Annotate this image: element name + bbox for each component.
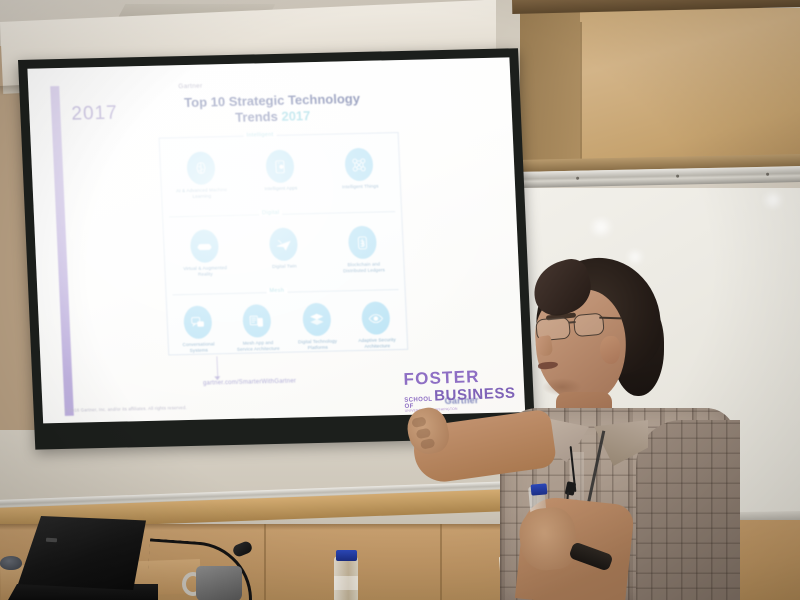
bottle-label xyxy=(334,576,358,590)
trend-label: Adaptive Security Architecture xyxy=(355,337,400,350)
trend-cell[interactable]: Conversational Systems xyxy=(175,305,221,354)
trend-cell[interactable]: Adaptive Security Architecture xyxy=(353,301,399,350)
trend-label: Digital Technology Platforms xyxy=(295,338,340,351)
foster-logo-business: BUSINESS xyxy=(434,385,516,405)
whiteboard-glare xyxy=(760,192,786,208)
foster-school-logo: FOSTER SCHOOL OF BUSINESS UNIVERSITY of … xyxy=(403,368,501,413)
shirt-shoulder-right xyxy=(636,420,740,600)
trend-grid: Intelligent AI & Advanced Mac xyxy=(159,132,409,355)
trend-cell[interactable]: Virtual & Augmented Reality xyxy=(176,229,232,279)
slide-title-year: 2017 xyxy=(281,108,311,124)
slide-title-line2: Trends xyxy=(235,109,278,125)
rail-screw xyxy=(676,175,679,178)
vr-headset-icon xyxy=(189,229,218,263)
held-bottle-cap xyxy=(531,483,548,495)
slide-connector-line xyxy=(216,356,218,378)
trend-row-3: Conversational Systems Mesh App and Ser xyxy=(167,301,407,355)
slide-brand-header: Gartner xyxy=(178,83,202,91)
trend-cell[interactable]: Blockchain and Distributed Ledgers xyxy=(335,225,391,275)
trend-label: Virtual & Augmented Reality xyxy=(178,265,233,279)
slide-corner-year: 2017 xyxy=(71,103,118,126)
knuckle xyxy=(416,428,432,440)
airplane-icon xyxy=(269,227,298,261)
trend-label: Intelligent Apps xyxy=(254,185,308,192)
trend-row-2: Virtual & Augmented Reality Digital Twin xyxy=(164,225,404,279)
trend-label: Mesh App and Service Architecture xyxy=(236,340,281,353)
trend-cell[interactable]: AI & Advanced Machine Learning xyxy=(173,151,229,201)
slide-title-main: Top 10 Strategic Technology xyxy=(184,91,360,110)
mobile-app-icon xyxy=(265,150,294,184)
rail-screw xyxy=(576,177,579,180)
connected-things-icon xyxy=(345,148,374,182)
eye-shield-icon xyxy=(361,301,390,335)
computer-mouse[interactable] xyxy=(0,556,22,570)
trend-label: Conversational Systems xyxy=(176,341,221,354)
slide-copyright-note: © 2016 Gartner, Inc. and/or its affiliat… xyxy=(65,405,187,413)
laptop-brand-logo xyxy=(46,538,57,543)
panel-seam xyxy=(580,22,582,162)
bottle-cap xyxy=(336,550,357,561)
wainscot-seam xyxy=(264,524,266,600)
trend-row-1: AI & Advanced Machine Learning Intellig xyxy=(160,147,400,201)
knuckle xyxy=(411,416,427,428)
brain-icon xyxy=(186,151,215,185)
wood-wall-panel-shadowed xyxy=(520,8,580,168)
layers-icon xyxy=(302,303,331,337)
slide-accent-bar xyxy=(50,86,74,416)
rail-screw xyxy=(766,173,769,176)
slide-title: Top 10 Strategic Technology Trends 2017 xyxy=(147,90,398,128)
ear xyxy=(600,336,620,364)
group-label-digital: Digital xyxy=(259,210,283,217)
lecture-hall-scene: 2017 Gartner Top 10 Strategic Technology… xyxy=(0,0,800,600)
group-label-mesh: Mesh xyxy=(266,288,287,294)
trend-label: AI & Advanced Machine Learning xyxy=(175,187,230,201)
coffee-mug[interactable] xyxy=(196,566,242,600)
trend-cell[interactable]: Digital Technology Platforms xyxy=(294,302,340,351)
devices-mesh-icon xyxy=(242,304,271,338)
trend-cell[interactable]: Intelligent Apps xyxy=(252,149,308,192)
trend-label: Blockchain and Distributed Ledgers xyxy=(337,261,392,275)
trend-label: Intelligent Things xyxy=(333,183,387,190)
trend-label: Digital Twin xyxy=(257,263,311,270)
slide-cta-url[interactable]: gartner.com/SmarterWithGartner xyxy=(159,377,339,387)
trend-cell[interactable]: Mesh App and Service Architecture xyxy=(234,304,280,353)
trend-cell[interactable]: Intelligent Things xyxy=(332,147,388,190)
whiteboard-glare xyxy=(586,218,616,236)
knuckle xyxy=(420,438,436,450)
trend-cell[interactable]: Digital Twin xyxy=(256,227,312,270)
chat-bubbles-icon xyxy=(183,305,212,339)
group-label-intelligent: Intelligent xyxy=(243,132,276,139)
whiteboard-glare xyxy=(624,250,646,264)
wainscot-seam xyxy=(440,524,442,600)
blockchain-icon xyxy=(348,226,377,260)
